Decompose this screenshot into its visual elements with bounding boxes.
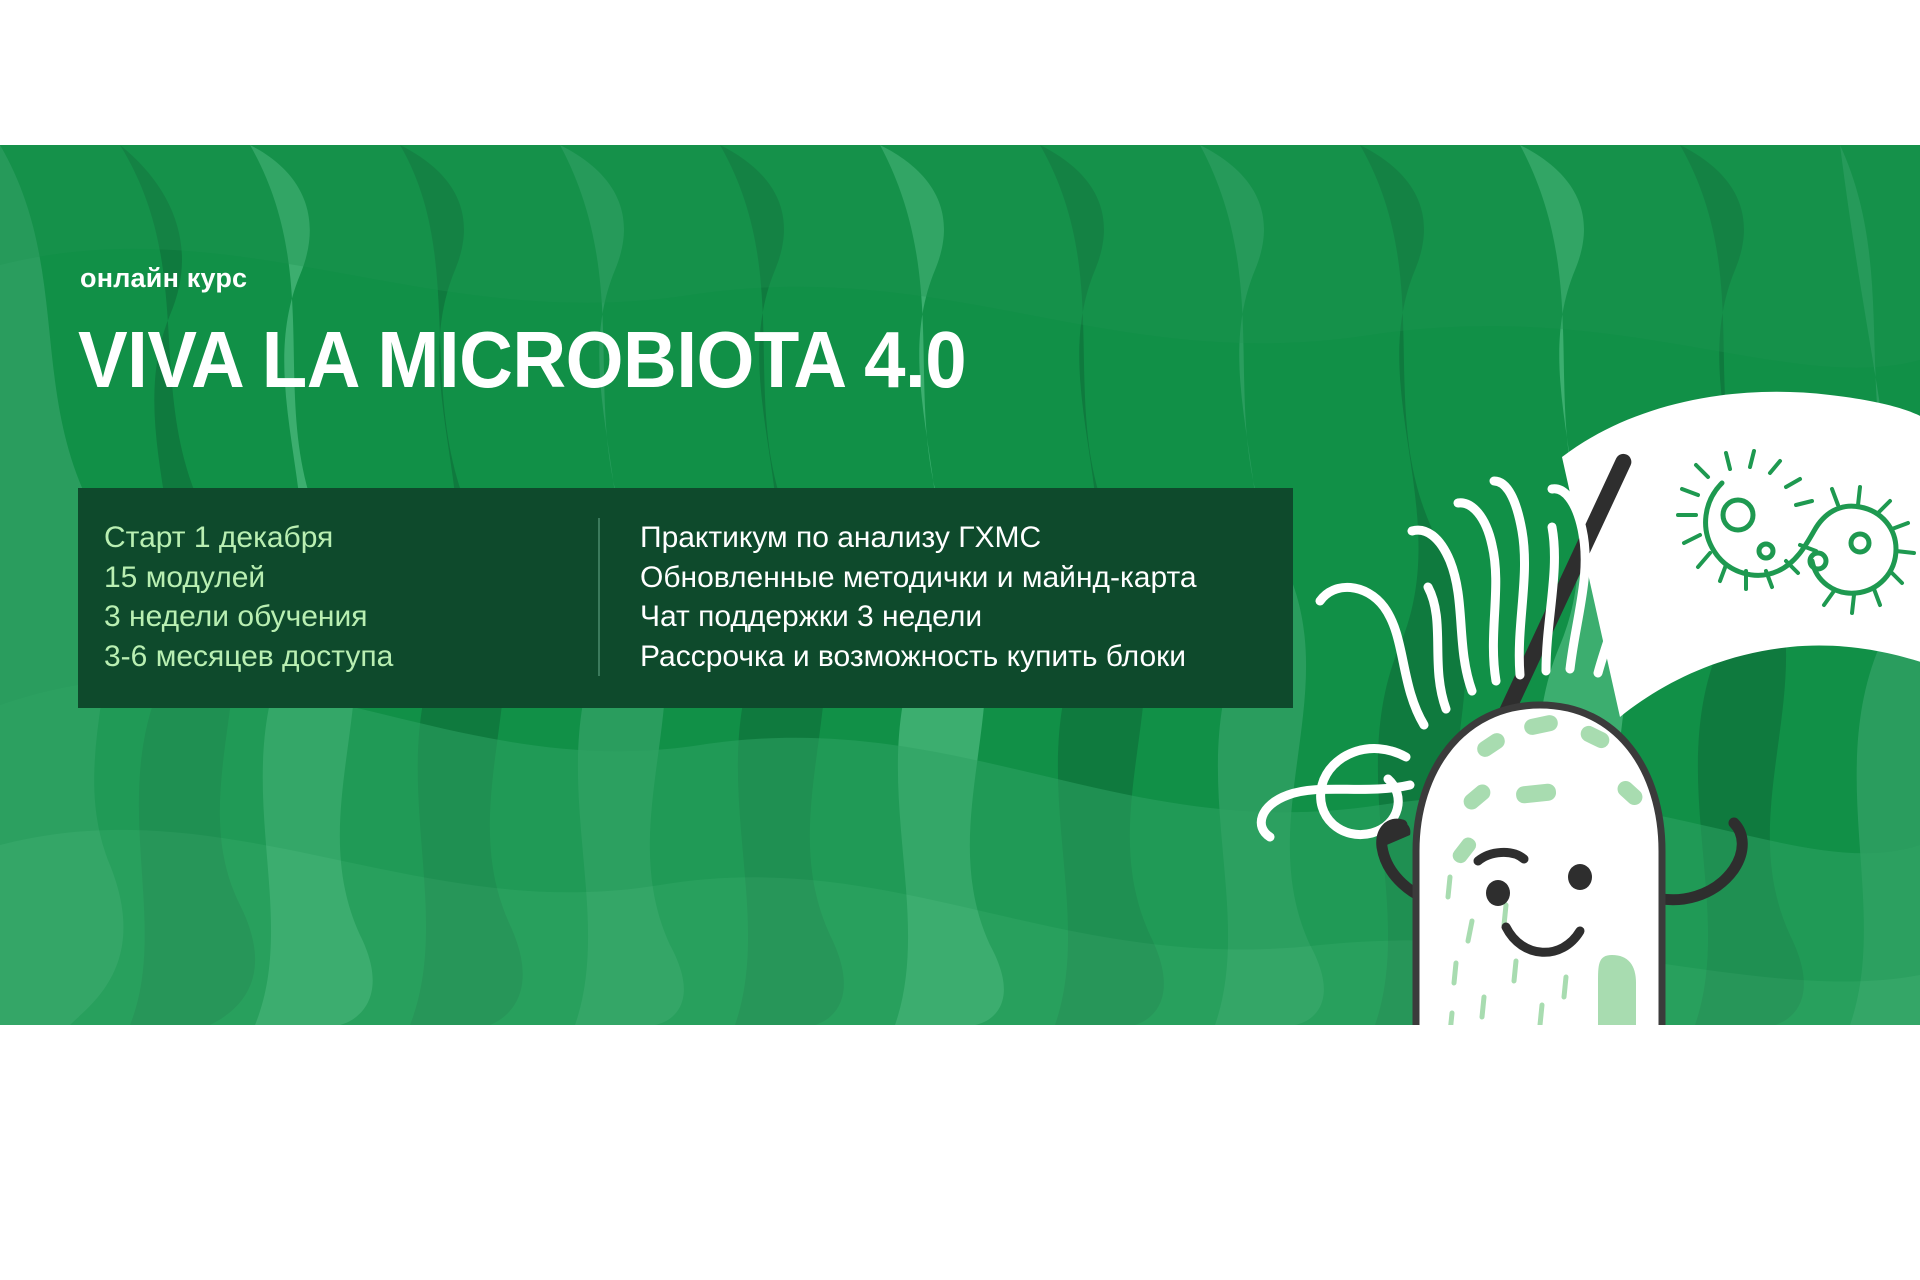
list-item: 3 недели обучения xyxy=(104,597,598,637)
list-item: 15 модулей xyxy=(104,558,598,598)
list-item: Рассрочка и возможность купить блоки xyxy=(640,637,1293,677)
course-details-column: Старт 1 декабря 15 модулей 3 недели обуч… xyxy=(78,518,598,676)
course-type-label: онлайн курс xyxy=(80,265,1328,292)
course-info-panel: Старт 1 декабря 15 модулей 3 недели обуч… xyxy=(78,488,1293,708)
list-item: Старт 1 декабря xyxy=(104,518,598,558)
course-promo-banner: онлайн курс VIVA LA MICROBIOTA 4.0 Старт… xyxy=(0,145,1920,1025)
list-item: Чат поддержки 3 недели xyxy=(640,597,1293,637)
page-title: VIVA LA MICROBIOTA 4.0 xyxy=(78,320,1241,400)
banner-content: онлайн курс VIVA LA MICROBIOTA 4.0 Старт… xyxy=(78,265,1328,708)
list-item: Практикум по анализу ГХМС xyxy=(640,518,1293,558)
list-item: 3-6 месяцев доступа xyxy=(104,637,598,677)
course-features-column: Практикум по анализу ГХМС Обновленные ме… xyxy=(598,518,1293,676)
page-root: онлайн курс VIVA LA MICROBIOTA 4.0 Старт… xyxy=(0,0,1920,1280)
list-item: Обновленные методички и майнд-карта xyxy=(640,558,1293,598)
